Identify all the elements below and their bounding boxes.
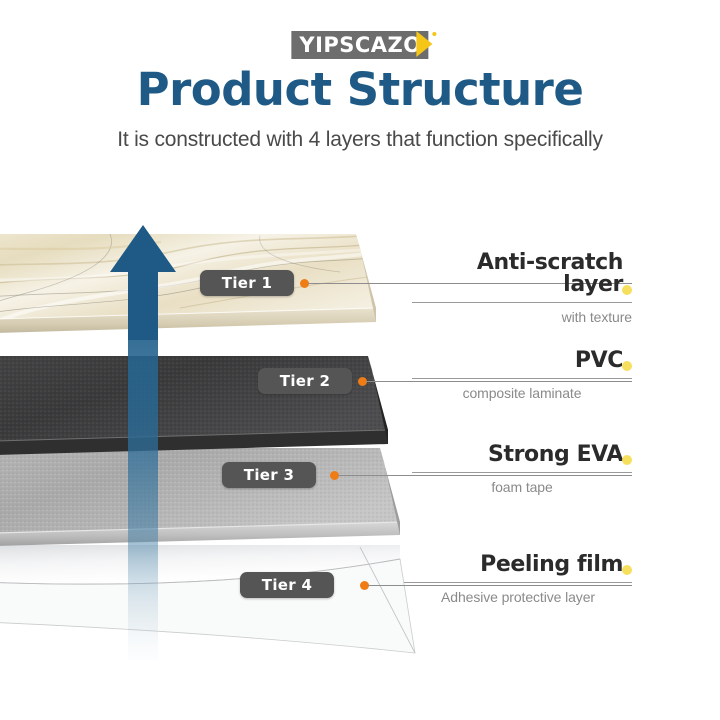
callout-4-subtitle: Adhesive protective layer <box>404 589 632 605</box>
callout-3-rule <box>412 472 632 473</box>
page-header: YIPSCAZO Product Structure It is constru… <box>0 0 720 175</box>
callout-1-subtitle: with texture <box>412 309 632 325</box>
callout-2-rule <box>412 378 632 379</box>
callout-1-title-row: Anti-scratch layer <box>412 252 632 296</box>
callout-3-subtitle: foam tape <box>412 479 632 495</box>
callout-4-title: Peeling film <box>480 554 623 576</box>
brand-logo: YIPSCAZO <box>291 30 428 60</box>
page-title: Product Structure <box>0 66 720 113</box>
logo-plate: YIPSCAZO <box>291 31 428 59</box>
callout-4-rule <box>404 582 632 583</box>
callout-1-title: Anti-scratch layer <box>412 252 623 296</box>
callout-2-bullet-icon <box>622 361 632 371</box>
logo-dot-icon <box>433 32 437 36</box>
tier-badge-2[interactable]: Tier 2 <box>258 368 352 394</box>
callout-tier-2: PVC composite laminate <box>412 350 632 401</box>
logo-wedge-icon <box>417 31 433 57</box>
callout-4-bullet-icon <box>622 565 632 575</box>
callout-1-bullet-icon <box>622 285 632 295</box>
callout-tier-4: Peeling film Adhesive protective layer <box>404 554 632 605</box>
callout-3-title-row: Strong EVA <box>412 444 632 466</box>
callout-1-rule <box>412 302 632 303</box>
callout-tier-3: Strong EVA foam tape <box>412 444 632 495</box>
tier-badge-4[interactable]: Tier 4 <box>240 572 334 598</box>
tier-badge-3[interactable]: Tier 3 <box>222 462 316 488</box>
callout-2-subtitle: composite laminate <box>412 385 632 401</box>
callout-4-title-row: Peeling film <box>404 554 632 576</box>
callout-3-title: Strong EVA <box>488 444 623 466</box>
callout-3-bullet-icon <box>622 455 632 465</box>
callout-2-title-row: PVC <box>412 350 632 372</box>
logo-wordmark: YIPSCAZO <box>299 35 421 56</box>
callout-2-title: PVC <box>575 350 623 372</box>
layer-stack-illustration: Tier 1 Tier 2 Tier 3 Tier 4 <box>0 200 440 670</box>
callout-tier-1: Anti-scratch layer with texture <box>412 252 632 325</box>
page-subtitle: It is constructed with 4 layers that fun… <box>0 128 720 152</box>
slab-tier-1 <box>0 230 440 390</box>
tier-badge-1[interactable]: Tier 1 <box>200 270 294 296</box>
